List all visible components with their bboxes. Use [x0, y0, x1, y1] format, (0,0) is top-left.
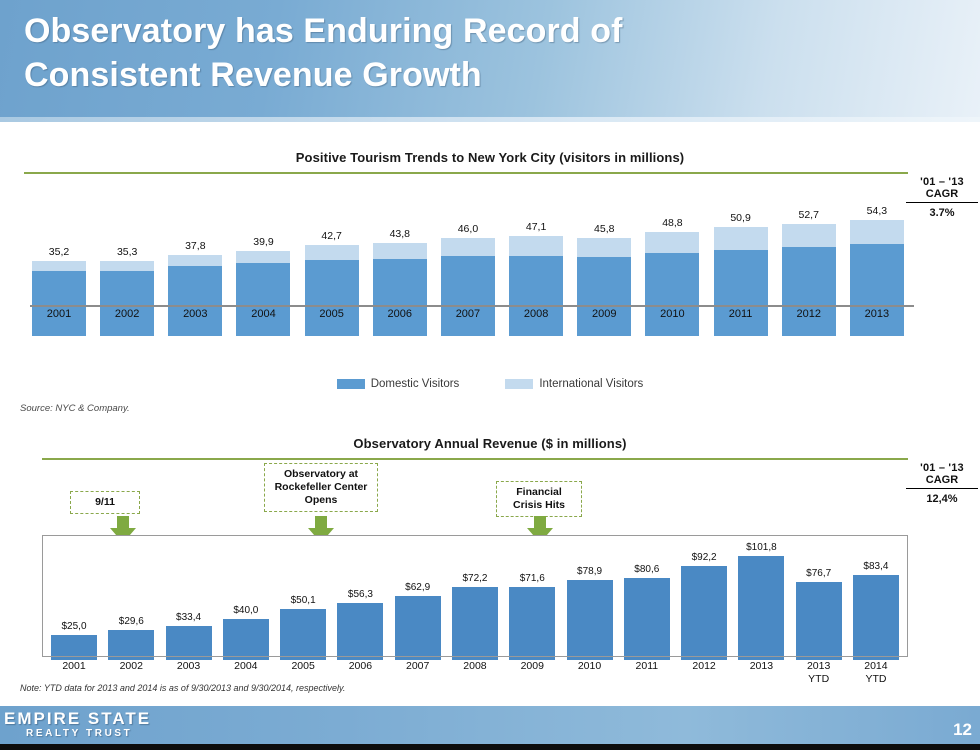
chart1-bar-value-label: 37,8	[185, 240, 205, 252]
chart1-bar-segment-international	[32, 261, 86, 271]
chart2-bar-value-label: $71,6	[520, 573, 545, 584]
legend-swatch-icon	[505, 379, 533, 389]
chart1-bar-segment-international	[441, 238, 495, 256]
chart2-x-tick-label: 2009	[506, 660, 558, 686]
slide-header: Observatory has Enduring Record of Consi…	[0, 0, 980, 122]
chart1-x-tick-label: 2005	[303, 308, 361, 320]
chart1-x-tick-label: 2012	[780, 308, 838, 320]
chart1-bar-value-label: 54,3	[867, 205, 887, 217]
chart1-x-tick-label: 2006	[371, 308, 429, 320]
chart1-stacked-bar	[441, 238, 495, 336]
chart1-cagr-box: '01 – '13 CAGR 3.7%	[906, 176, 978, 219]
logo-line-2: REALTY TRUST	[4, 728, 151, 739]
chart2-bar-value-label: $25,0	[61, 621, 86, 632]
chart1-stacked-bar	[577, 238, 631, 336]
chart2-cagr-label: CAGR	[906, 474, 978, 489]
chart1-bar-value-label: 46,0	[458, 223, 478, 235]
chart2-bar-group: $76,7	[793, 568, 845, 660]
chart1-x-tick-label: 2010	[643, 308, 701, 320]
chart1-bar-group: 37,8	[166, 240, 224, 336]
chart1-bar-segment-international	[509, 236, 563, 256]
chart1-bar-segment-international	[850, 220, 904, 244]
company-logo: EMPIRE STATE REALTY TRUST	[4, 710, 151, 739]
chart1-x-tick-label: 2001	[30, 308, 88, 320]
chart1-bar-segment-international	[714, 227, 768, 250]
chart1-bar-segment-domestic	[782, 247, 836, 336]
chart1-bar-segment-domestic	[577, 257, 631, 336]
slide-footer: EMPIRE STATE REALTY TRUST 12	[0, 706, 980, 744]
chart2-bar	[337, 603, 383, 660]
chart2-bar-value-label: $101,8	[746, 542, 777, 553]
chart2-bar-group: $33,4	[163, 612, 215, 660]
chart2-bar-group: $72,2	[449, 573, 501, 661]
chart2-bar-group: $40,0	[220, 605, 272, 660]
chart2-top-rule	[42, 458, 908, 460]
chart1-bar-segment-international	[577, 238, 631, 257]
chart1-stacked-bar	[32, 261, 86, 336]
chart1-bar-segment-domestic	[645, 253, 699, 336]
chart1-x-tick-label: 2004	[234, 308, 292, 320]
chart1-bar-segment-international	[782, 224, 836, 248]
chart1-bar-value-label: 52,7	[799, 209, 819, 221]
chart2-bar	[223, 619, 269, 660]
chart1-x-axis	[30, 305, 914, 307]
chart2-x-axis	[42, 656, 908, 657]
chart1-bar-value-label: 47,1	[526, 221, 546, 233]
chart1-bar-group: 42,7	[303, 230, 361, 336]
chart1-bar-segment-international	[305, 245, 359, 260]
chart1-bar-segment-domestic	[850, 244, 904, 336]
chart1-bar-value-label: 35,2	[49, 246, 69, 258]
chart2-bar	[509, 587, 555, 660]
chart2-bar-group: $92,2	[678, 552, 730, 660]
chart2-bar	[796, 582, 842, 660]
chart1-bar-value-label: 39,9	[253, 236, 273, 248]
chart1-bar-segment-international	[100, 261, 154, 271]
chart1-stacked-bar	[168, 255, 222, 336]
header-underline	[0, 117, 980, 122]
chart2-bar	[624, 578, 670, 660]
chart1-bar-group: 35,3	[98, 246, 156, 336]
chart2-cagr-value: 12,4%	[906, 489, 978, 505]
chart2-x-tick-label: 2010	[564, 660, 616, 686]
chart2-title: Observatory Annual Revenue ($ in million…	[0, 436, 980, 451]
chart1-stacked-bar	[509, 236, 563, 336]
chart2-bar-value-label: $80,6	[634, 564, 659, 575]
page-title-line-2: Consistent Revenue Growth	[24, 54, 956, 98]
chart1-bar-segment-domestic	[441, 256, 495, 336]
chart2-bar	[166, 626, 212, 660]
chart1-bar-segment-domestic	[32, 271, 86, 336]
chart1-x-tick-labels: 2001200220032004200520062007200820092010…	[30, 308, 906, 320]
chart1-bar-segment-domestic	[236, 263, 290, 336]
chart2-bar-value-label: $78,9	[577, 566, 602, 577]
chart2-bar-value-label: $83,4	[863, 561, 888, 572]
chart2-bar-value-label: $92,2	[692, 552, 717, 563]
logo-line-1: EMPIRE STATE	[4, 710, 151, 728]
chart2-bar	[452, 587, 498, 661]
chart2-x-tick-label: 2007	[392, 660, 444, 686]
chart1-x-tick-label: 2003	[166, 308, 224, 320]
chart2-bar-value-label: $72,2	[462, 573, 487, 584]
chart2-bar	[567, 580, 613, 660]
chart1-source-note: Source: NYC & Company.	[20, 403, 130, 414]
chart1-bar-segment-domestic	[168, 266, 222, 336]
chart2-bar-value-label: $40,0	[233, 605, 258, 616]
chart1-legend-item: Domestic Visitors	[337, 378, 460, 390]
footer-bottom-edge	[0, 744, 980, 750]
chart1-bar-segment-domestic	[305, 260, 359, 336]
chart2-x-tick-label: 2013	[735, 660, 787, 686]
chart1-legend-label: International Visitors	[539, 378, 643, 390]
chart2-bar	[681, 566, 727, 660]
chart1-bar-value-label: 48,8	[662, 217, 682, 229]
chart1-bar-value-label: 42,7	[321, 230, 341, 242]
chart2-bar-group: $62,9	[392, 582, 444, 660]
chart2-bar-group: $80,6	[621, 564, 673, 660]
chart1-bar-group: 39,9	[234, 236, 292, 336]
chart1-bar-segment-international	[645, 232, 699, 253]
chart2-bar-value-label: $62,9	[405, 582, 430, 593]
chart2-x-tick-label: 2014YTD	[850, 660, 902, 686]
chart1-cagr-period: '01 – '13	[906, 176, 978, 188]
chart1-legend: Domestic VisitorsInternational Visitors	[0, 378, 980, 390]
chart1-stacked-bar	[305, 245, 359, 336]
chart2-bar-group: $101,8	[735, 542, 787, 660]
chart1-bar-value-label: 50,9	[730, 212, 750, 224]
chart1-x-tick-label: 2008	[507, 308, 565, 320]
chart2-bar	[738, 556, 784, 660]
chart2-x-tick-label: 2012	[678, 660, 730, 686]
chart2-x-tick-label: 2008	[449, 660, 501, 686]
chart1-stacked-bar	[645, 232, 699, 336]
chart2-bar	[280, 609, 326, 660]
chart2-plot-area: $25,0$29,6$33,4$40,0$50,1$56,3$62,9$72,2…	[48, 500, 902, 660]
chart2-cagr-period: '01 – '13	[906, 462, 978, 474]
chart1-bar-segment-domestic	[714, 250, 768, 336]
chart2-bar-value-label: $33,4	[176, 612, 201, 623]
chart2-cagr-box: '01 – '13 CAGR 12,4%	[906, 462, 978, 505]
legend-swatch-icon	[337, 379, 365, 389]
chart1-bar-value-label: 43,8	[390, 228, 410, 240]
page-title: Observatory has Enduring Record of Consi…	[24, 10, 956, 97]
chart1-stacked-bar	[100, 261, 154, 336]
chart2-bar	[395, 596, 441, 660]
chart1-bar-value-label: 35,3	[117, 246, 137, 258]
chart1-stacked-bar	[373, 243, 427, 336]
chart2-bar-group: $71,6	[506, 573, 558, 660]
chart1-legend-item: International Visitors	[505, 378, 643, 390]
chart1-x-tick-label: 2013	[848, 308, 906, 320]
page-number: 12	[953, 720, 972, 740]
chart1-x-tick-label: 2011	[712, 308, 770, 320]
chart2-bar-group: $83,4	[850, 561, 902, 660]
chart1-bar-segment-domestic	[373, 259, 427, 336]
chart2-bar	[853, 575, 899, 660]
chart2-bar-value-label: $76,7	[806, 568, 831, 579]
chart1-bar-segment-international	[373, 243, 427, 259]
chart1-bar-group: 35,2	[30, 246, 88, 336]
chart1-tourism: 35,235,337,839,942,743,846,047,145,848,8…	[24, 150, 914, 330]
chart1-bar-segment-international	[168, 255, 222, 265]
chart2-x-tick-label: 2011	[621, 660, 673, 686]
chart2-footnote: Note: YTD data for 2013 and 2014 is as o…	[20, 683, 345, 693]
chart2-bar-value-label: $56,3	[348, 589, 373, 600]
chart1-bar-segment-international	[236, 251, 290, 263]
chart1-cagr-label: CAGR	[906, 188, 978, 203]
chart2-bar-value-label: $50,1	[291, 595, 316, 606]
chart1-x-tick-label: 2007	[439, 308, 497, 320]
chart1-bar-value-label: 45,8	[594, 223, 614, 235]
chart1-x-tick-label: 2002	[98, 308, 156, 320]
chart1-bar-segment-domestic	[509, 256, 563, 336]
chart2-bar-group: $25,0	[48, 621, 100, 660]
chart2-bar-group: $78,9	[564, 566, 616, 660]
chart1-x-tick-label: 2009	[575, 308, 633, 320]
chart2-bar-value-label: $29,6	[119, 616, 144, 627]
chart1-cagr-value: 3.7%	[906, 203, 978, 219]
chart1-legend-label: Domestic Visitors	[371, 378, 460, 390]
chart2-x-tick-label: 2013YTD	[793, 660, 845, 686]
chart2-bar-group: $56,3	[334, 589, 386, 660]
chart2-bar-group: $29,6	[105, 616, 157, 660]
chart2-bar-group: $50,1	[277, 595, 329, 660]
chart1-stacked-bar	[236, 251, 290, 336]
chart1-bar-segment-domestic	[100, 271, 154, 336]
slide: Observatory has Enduring Record of Consi…	[0, 0, 980, 750]
page-title-line-1: Observatory has Enduring Record of	[24, 10, 956, 54]
